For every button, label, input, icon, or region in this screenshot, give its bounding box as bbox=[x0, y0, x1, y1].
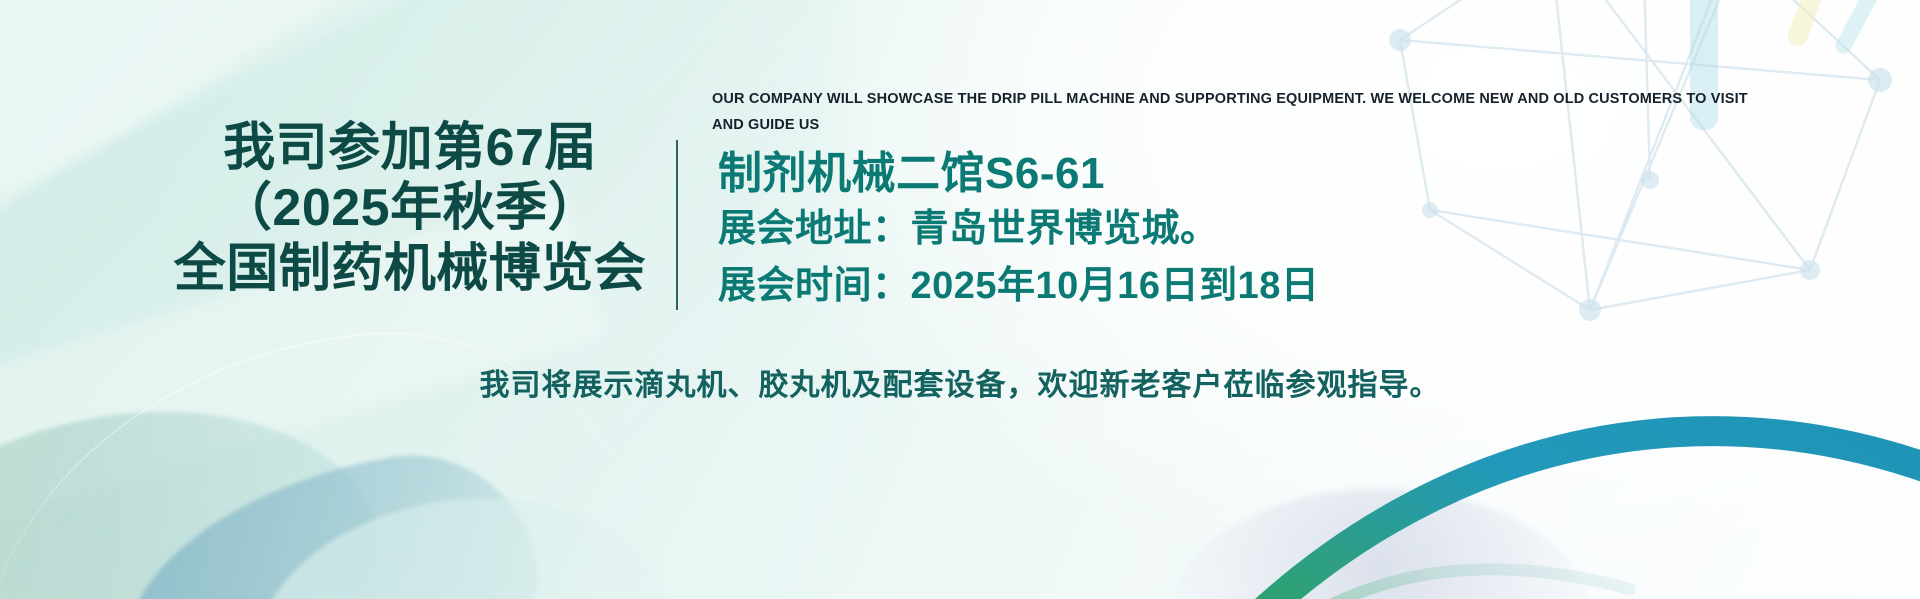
eyebrow-english-text: OUR COMPANY WILL SHOWCASE THE DRIP PILL … bbox=[712, 86, 1782, 139]
exhibition-banner: 我司参加第67届 （2025年秋季） 全国制药机械博览会 OUR COMPANY… bbox=[0, 0, 1920, 599]
banner-content: 我司参加第67届 （2025年秋季） 全国制药机械博览会 OUR COMPANY… bbox=[0, 0, 1920, 599]
headline-line-1: 我司参加第67届 bbox=[150, 118, 670, 178]
headline-line-3: 全国制药机械博览会 bbox=[150, 239, 670, 299]
exhibition-datetime: 展会时间：2025年10月16日到18日 bbox=[718, 258, 1319, 315]
exhibition-info-block: 制剂机械二馆S6-61 展会地址：青岛世界博览城。 展会时间：2025年10月1… bbox=[718, 146, 1319, 315]
exhibition-address: 展会地址：青岛世界博览城。 bbox=[718, 201, 1319, 258]
headline-line-2: （2025年秋季） bbox=[150, 178, 670, 238]
vertical-divider bbox=[676, 140, 678, 310]
headline-left: 我司参加第67届 （2025年秋季） 全国制药机械博览会 bbox=[150, 118, 670, 299]
booth-location: 制剂机械二馆S6-61 bbox=[718, 146, 1319, 201]
banner-subtitle: 我司将展示滴丸机、胶丸机及配套设备，欢迎新老客户莅临参观指导。 bbox=[0, 360, 1920, 404]
